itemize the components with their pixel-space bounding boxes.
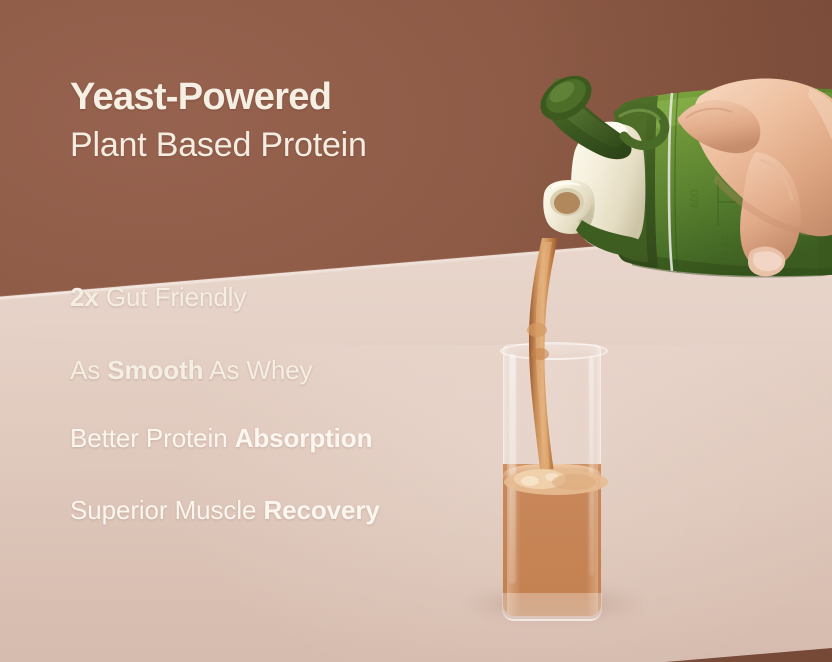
spout-opening-inner (554, 192, 580, 214)
hand-holding-bottle (660, 78, 832, 293)
benefit-1-bold: 2x (70, 282, 99, 312)
headline-primary: Yeast-Powered (70, 78, 331, 116)
benefit-2-pre: As (70, 355, 107, 385)
benefit-item-3: Better Protein Absorption (70, 425, 372, 451)
benefit-2-bold: Smooth (107, 355, 203, 385)
benefit-4-pre: Superior Muscle (70, 495, 263, 525)
benefit-2-post: As Whey (203, 355, 312, 385)
poster-canvas: 600 16 oz 400 12 oz (0, 0, 832, 662)
stream-ripple-2 (531, 348, 549, 360)
benefit-item-1: 2x Gut Friendly (70, 284, 246, 310)
benefit-item-4: Superior Muscle Recovery (70, 497, 380, 523)
benefit-item-2: As Smooth As Whey (70, 357, 312, 383)
glass-base (502, 593, 602, 621)
benefit-1-post: Gut Friendly (99, 282, 247, 312)
benefit-3-bold: Absorption (235, 423, 373, 453)
stream-ripple (527, 323, 547, 337)
liquid-surface-foam (500, 460, 610, 506)
benefit-4-bold: Recovery (263, 495, 379, 525)
headline-secondary: Plant Based Protein (70, 128, 367, 162)
benefit-3-pre: Better Protein (70, 423, 235, 453)
